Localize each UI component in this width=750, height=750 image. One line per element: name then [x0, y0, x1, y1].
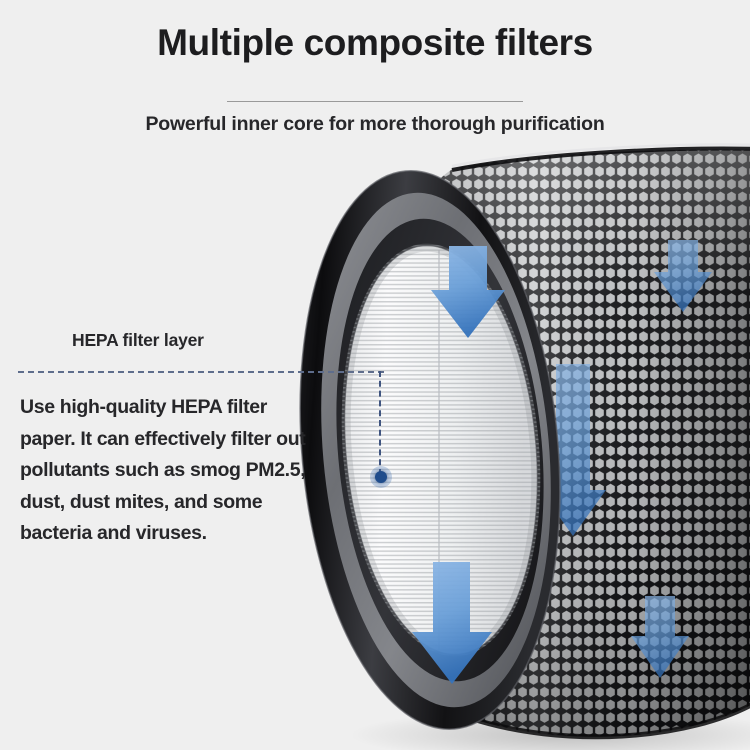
page-title: Multiple composite filters — [0, 22, 750, 63]
callout-leader-horizontal — [18, 371, 384, 373]
callout-body-text: Use high-quality HEPA filter paper. It c… — [20, 392, 316, 550]
callout-dot — [375, 471, 387, 483]
page-subtitle: Powerful inner core for more thorough pu… — [0, 113, 750, 136]
callout-leader-vertical — [379, 371, 381, 475]
infographic-canvas: Multiple composite filters Powerful inne… — [0, 0, 750, 750]
title-divider — [227, 101, 523, 102]
callout-label: HEPA filter layer — [72, 330, 204, 351]
